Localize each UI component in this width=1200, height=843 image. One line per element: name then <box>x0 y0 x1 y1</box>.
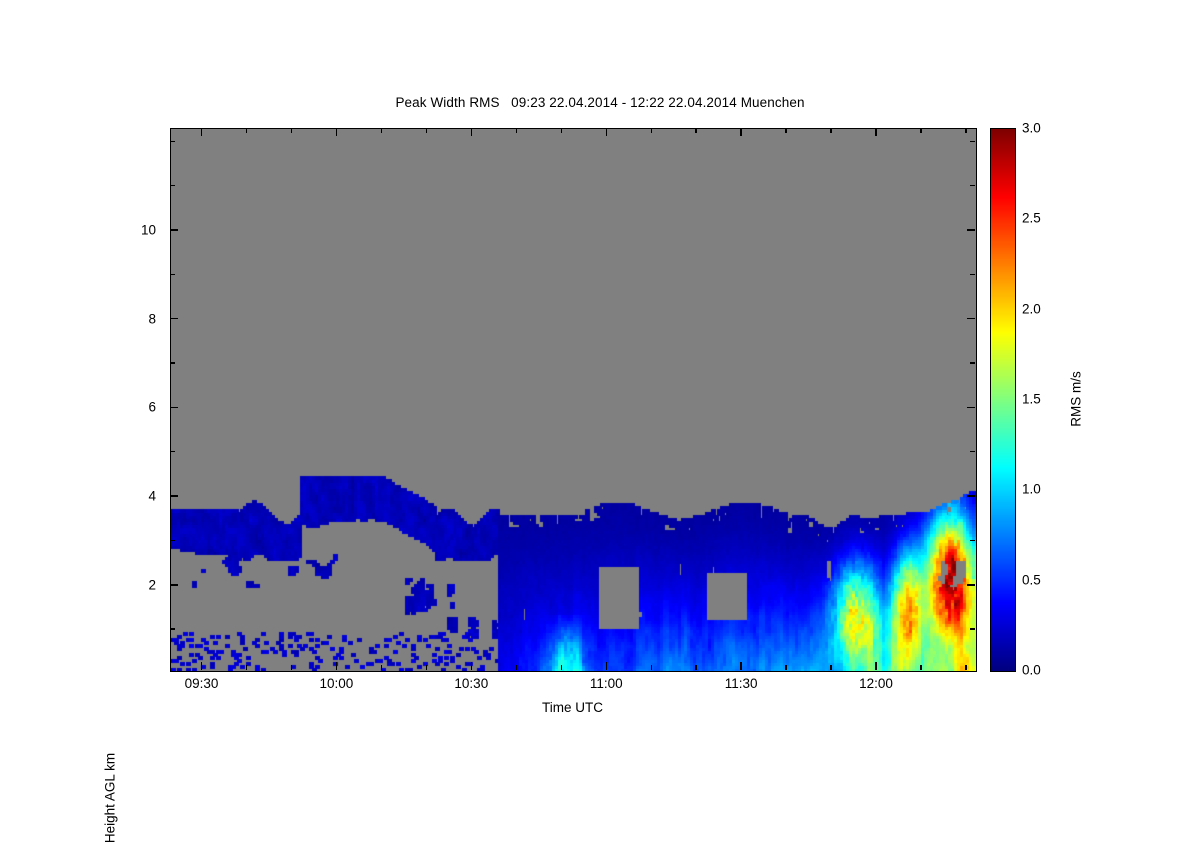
axis-tick <box>561 665 562 670</box>
colorbar-tick-label: 2.0 <box>1022 301 1041 316</box>
axis-tick <box>516 665 517 670</box>
colorbar-tick-label: 1.0 <box>1022 482 1041 497</box>
axis-tick <box>830 128 831 133</box>
colorbar-tick-label: 0.0 <box>1022 663 1041 678</box>
plot-axes <box>170 128 977 672</box>
axis-tick <box>740 662 741 670</box>
axis-tick <box>170 362 175 363</box>
axis-tick <box>246 665 247 670</box>
axis-tick <box>651 128 652 133</box>
axis-tick <box>967 318 975 319</box>
figure-canvas: Peak Width RMS 09:23 22.04.2014 - 12:22 … <box>0 0 1200 800</box>
axis-tick <box>471 128 472 136</box>
axis-tick <box>471 662 472 670</box>
axis-tick <box>170 495 178 496</box>
y-tick-label: 4 <box>120 489 156 504</box>
axis-tick <box>875 128 876 136</box>
axis-tick <box>516 128 517 133</box>
axis-tick <box>695 665 696 670</box>
axis-tick <box>606 662 607 670</box>
axis-tick <box>170 628 175 629</box>
axis-tick <box>246 128 247 133</box>
axis-tick <box>970 362 975 363</box>
axis-tick <box>970 451 975 452</box>
x-tick-label: 10:00 <box>319 676 353 691</box>
y-axis-title: Height AGL km <box>103 753 118 843</box>
axis-tick <box>695 128 696 133</box>
axis-tick <box>651 665 652 670</box>
axis-tick <box>426 665 427 670</box>
heatmap-data-area <box>171 129 976 671</box>
colorbar <box>990 128 1016 672</box>
axis-tick <box>785 665 786 670</box>
axis-tick <box>920 665 921 670</box>
plot-title: Peak Width RMS 09:23 22.04.2014 - 12:22 … <box>0 95 1200 110</box>
axis-tick <box>970 628 975 629</box>
axis-tick <box>170 540 175 541</box>
axis-tick <box>170 141 175 142</box>
axis-tick <box>965 665 966 670</box>
x-tick-label: 12:00 <box>859 676 893 691</box>
axis-tick <box>291 665 292 670</box>
axis-tick <box>606 128 607 136</box>
axis-tick <box>970 185 975 186</box>
axis-tick <box>561 128 562 133</box>
axis-tick <box>785 128 786 133</box>
y-tick-label: 2 <box>120 577 156 592</box>
axis-tick <box>170 274 175 275</box>
axis-tick <box>970 540 975 541</box>
axis-tick <box>967 407 975 408</box>
x-tick-label: 10:30 <box>454 676 488 691</box>
y-tick-label: 6 <box>120 400 156 415</box>
axis-tick <box>920 128 921 133</box>
axis-tick <box>967 495 975 496</box>
axis-tick <box>967 229 975 230</box>
axis-tick <box>381 128 382 133</box>
axis-tick <box>381 665 382 670</box>
axis-tick <box>967 584 975 585</box>
axis-tick <box>170 318 178 319</box>
axis-tick <box>740 128 741 136</box>
y-tick-label: 10 <box>120 223 156 238</box>
axis-tick <box>426 128 427 133</box>
x-tick-label: 09:30 <box>185 676 219 691</box>
x-axis-title: Time UTC <box>170 700 975 715</box>
x-tick-label: 11:30 <box>725 676 758 691</box>
colorbar-tick-label: 2.5 <box>1022 211 1041 226</box>
colorbar-gradient <box>991 129 1015 671</box>
axis-tick <box>170 584 178 585</box>
axis-tick <box>875 662 876 670</box>
axis-tick <box>170 451 175 452</box>
axis-tick <box>830 665 831 670</box>
axis-tick <box>965 128 966 133</box>
axis-tick <box>170 185 175 186</box>
axis-tick <box>201 662 202 670</box>
colorbar-tick-label: 3.0 <box>1022 121 1041 136</box>
axis-tick <box>291 128 292 133</box>
axis-tick <box>336 128 337 136</box>
colorbar-tick-label: 1.5 <box>1022 392 1041 407</box>
y-tick-label: 8 <box>120 311 156 326</box>
axis-tick <box>970 274 975 275</box>
axis-tick <box>170 407 178 408</box>
axis-tick <box>170 229 178 230</box>
axis-tick <box>970 141 975 142</box>
colorbar-tick-label: 0.5 <box>1022 572 1041 587</box>
axis-tick <box>336 662 337 670</box>
x-tick-label: 11:00 <box>590 676 623 691</box>
colorbar-title: RMS m/s <box>1069 371 1084 427</box>
axis-tick <box>201 128 202 136</box>
